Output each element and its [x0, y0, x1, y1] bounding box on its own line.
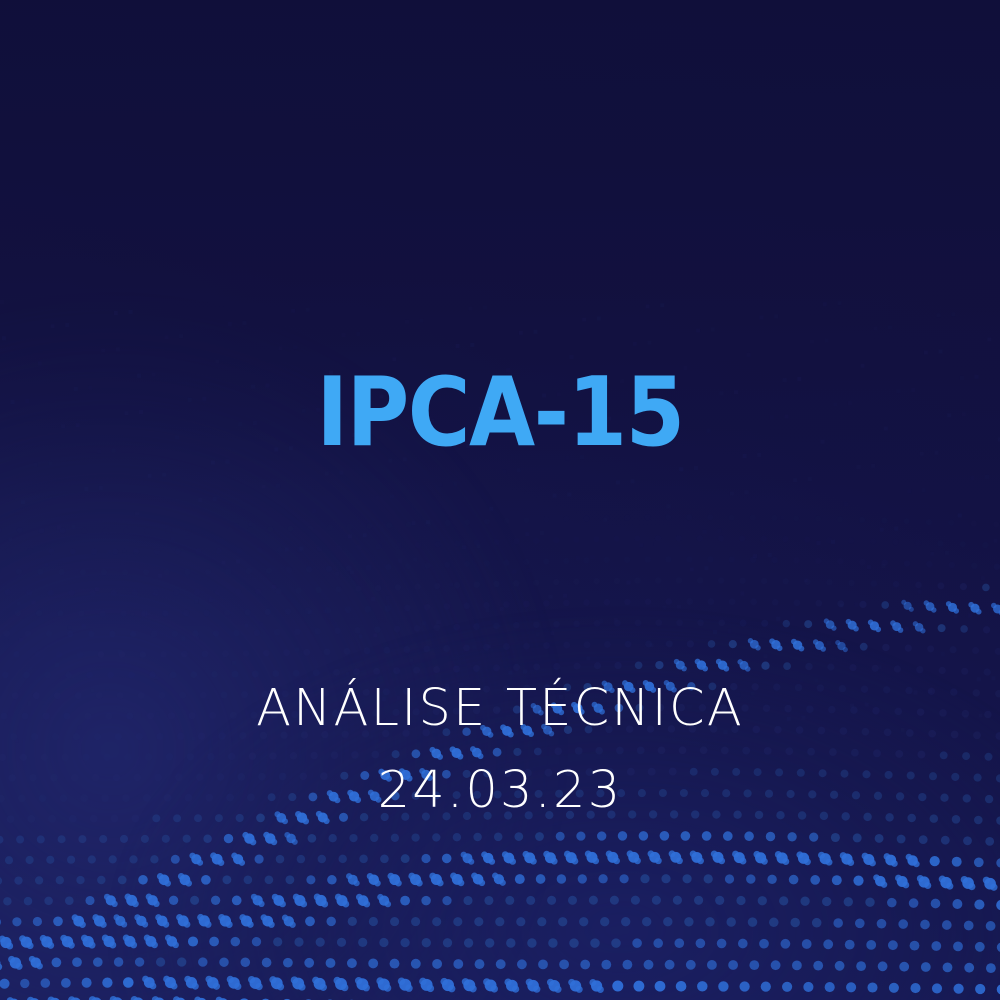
subtitle-text: ANÁLISE TÉCNICA — [0, 678, 1000, 740]
date-text: 24.03.23 — [0, 760, 1000, 822]
card-content: IPCA-15 ANÁLISE TÉCNICA 24.03.23 — [0, 0, 1000, 1000]
ipca-social-card: IPCA-15 ANÁLISE TÉCNICA 24.03.23 — [0, 0, 1000, 1000]
subtitle-block: ANÁLISE TÉCNICA 24.03.23 — [0, 678, 1000, 822]
page-title: IPCA-15 — [0, 366, 1000, 461]
